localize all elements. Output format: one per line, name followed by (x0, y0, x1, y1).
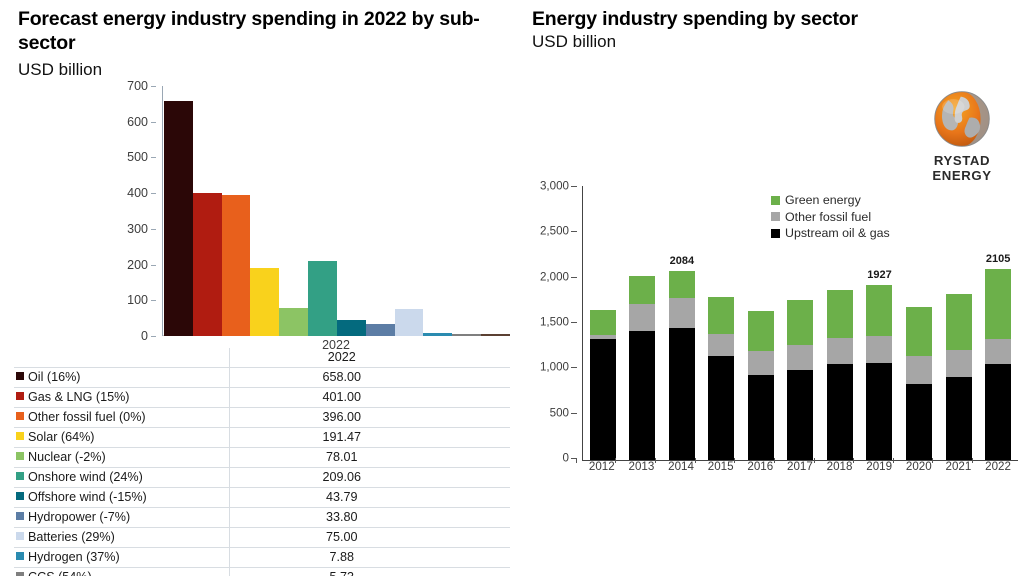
infographic-page: Forecast energy industry spending in 202… (0, 0, 1024, 576)
table-row-label: Other fossil fuel (0%) (14, 408, 229, 428)
stacked-bar-segment (906, 356, 932, 384)
table-row-label-text: Other fossil fuel (0%) (28, 410, 146, 424)
table-row: Offshore wind (-15%)43.79 (14, 488, 510, 508)
left-chart-bar (308, 261, 337, 336)
right-chart-y-tickmark (571, 231, 577, 232)
legend-swatch-icon (16, 432, 24, 440)
right-chart-x-tick-label: 2020 (906, 460, 932, 473)
table-row: Onshore wind (24%)209.06 (14, 468, 510, 488)
stacked-bar-segment (787, 300, 813, 345)
table-row-label-text: Solar (64%) (28, 430, 95, 444)
stacked-bar-segment (866, 285, 892, 336)
legend-swatch-icon (16, 492, 24, 500)
right-chart-x-tick-label: 2012 (589, 460, 615, 473)
right-chart-x-tick-label: 2022 (985, 460, 1011, 473)
table-row-label: Hydropower (-7%) (14, 508, 229, 528)
right-chart-y-tickmark (571, 367, 577, 368)
table-header-year: 2022 (229, 348, 510, 368)
stacked-bar-segment (629, 331, 655, 460)
right-chart-x-tick-label: 2014 (668, 460, 694, 473)
legend-swatch-icon (16, 532, 24, 540)
right-chart-x-tick-label: 2018 (827, 460, 853, 473)
legend-swatch-icon (16, 572, 24, 576)
left-chart-bars (163, 86, 510, 336)
right-chart-y-tickmark (571, 413, 577, 414)
left-chart-bar (481, 334, 510, 336)
left-chart-y-tickmark (151, 265, 156, 266)
stacked-bar-segment (669, 298, 695, 328)
left-chart-y-tickmark (151, 86, 156, 87)
left-chart-title: Forecast energy industry spending in 202… (18, 8, 488, 56)
left-chart-bar (337, 320, 366, 336)
right-chart-x-axis: 2012201320142015201620172018201920202021… (582, 460, 1018, 473)
left-chart-panel: Forecast energy industry spending in 202… (0, 0, 516, 576)
right-chart-y-tick-label: 0 (563, 452, 569, 465)
stacked-bar-segment (985, 339, 1011, 365)
left-chart-y-tickmark (151, 229, 156, 230)
left-bar-chart: 0100200300400500600700 2022 (110, 86, 510, 336)
left-chart-bar (193, 193, 222, 336)
right-chart-stacked-bar: 2084 (669, 186, 695, 460)
left-chart-plot-area (162, 86, 510, 336)
stacked-bar-segment (985, 269, 1011, 338)
table-row-label-text: Oil (16%) (28, 370, 80, 384)
left-chart-bar (395, 309, 424, 336)
table-row-label: CCS (54%) (14, 568, 229, 576)
right-chart-x-tick-label: 2021 (945, 460, 971, 473)
stacked-bar-segment (708, 356, 734, 460)
right-chart-y-tickmark (571, 322, 577, 323)
stacked-bar-segment (629, 276, 655, 304)
table-row-value: 401.00 (229, 388, 510, 408)
table-row-value: 658.00 (229, 368, 510, 388)
table-row-label: Onshore wind (24%) (14, 468, 229, 488)
table-row-label-text: Offshore wind (-15%) (28, 490, 147, 504)
right-chart-stacked-bar (827, 186, 853, 460)
left-chart-bar (279, 308, 308, 336)
table-row-label-text: Hydrogen (37%) (28, 550, 120, 564)
left-chart-y-tickmark (151, 157, 156, 158)
left-chart-y-tickmark (151, 122, 156, 123)
table-row-label: Offshore wind (-15%) (14, 488, 229, 508)
right-chart-subtitle: USD billion (532, 32, 616, 52)
table-row-value: 7.88 (229, 548, 510, 568)
stacked-bar-segment (866, 336, 892, 363)
right-chart-y-tick-label: 3,000 (540, 180, 569, 193)
stacked-bar-segment (985, 364, 1011, 460)
table-row-value: 33.80 (229, 508, 510, 528)
left-chart-legend-table: 2022Oil (16%)658.00Gas & LNG (15%)401.00… (14, 348, 510, 576)
stacked-bar-segment (748, 311, 774, 351)
right-chart-stacked-bar (748, 186, 774, 460)
stacked-bar-segment (946, 294, 972, 350)
right-chart-x-tick-label: 2016 (747, 460, 773, 473)
table-row: Gas & LNG (15%)401.00 (14, 388, 510, 408)
stacked-bar-segment (866, 363, 892, 460)
stacked-bar-segment (827, 364, 853, 460)
stacked-bar-segment (748, 351, 774, 375)
table-row-value: 209.06 (229, 468, 510, 488)
right-chart-bars: 208419272105 (583, 186, 1018, 460)
right-chart-y-axis: 05001,0001,5002,0002,5003,000 (522, 186, 578, 458)
left-chart-y-axis: 0100200300400500600700 (110, 86, 156, 336)
left-chart-bar (222, 195, 251, 336)
legend-swatch-icon (16, 412, 24, 420)
legend-swatch-icon (16, 392, 24, 400)
right-chart-y-tick-label: 1,500 (540, 316, 569, 329)
left-chart-y-tick-label: 0 (141, 329, 148, 343)
right-chart-stacked-bar (787, 186, 813, 460)
table-row-label: Solar (64%) (14, 428, 229, 448)
left-chart-y-tick-label: 600 (127, 115, 148, 129)
bar-total-label: 1927 (867, 269, 891, 281)
table-row-label: Gas & LNG (15%) (14, 388, 229, 408)
right-chart-stacked-bar (708, 186, 734, 460)
right-chart-x-tick-label: 2013 (628, 460, 654, 473)
legend-swatch-icon (16, 512, 24, 520)
legend-swatch-icon (16, 452, 24, 460)
table-row-label: Nuclear (-2%) (14, 448, 229, 468)
stacked-bar-segment (590, 339, 616, 460)
right-chart-stacked-bar (906, 186, 932, 460)
left-chart-bar (164, 101, 193, 336)
right-chart-title: Energy industry spending by sector (532, 8, 858, 32)
stacked-bar-segment (629, 304, 655, 331)
table-row-label-text: Hydropower (-7%) (28, 510, 130, 524)
right-chart-y-tick-label: 2,500 (540, 225, 569, 238)
right-chart-x-tick-label: 2017 (787, 460, 813, 473)
table-row-label-text: Onshore wind (24%) (28, 470, 143, 484)
globe-icon (931, 88, 993, 150)
right-chart-stacked-bar: 1927 (866, 186, 892, 460)
table-row-value: 78.01 (229, 448, 510, 468)
table-row-label-text: Gas & LNG (15%) (28, 390, 129, 404)
left-chart-y-tick-label: 200 (127, 258, 148, 272)
legend-swatch-icon (16, 372, 24, 380)
left-chart-y-tickmark (151, 336, 156, 337)
table-header-row: 2022 (14, 348, 510, 368)
right-chart-stacked-bar (629, 186, 655, 460)
stacked-bar-segment (946, 350, 972, 377)
left-chart-y-tick-label: 500 (127, 150, 148, 164)
table-row: Other fossil fuel (0%)396.00 (14, 408, 510, 428)
right-chart-stacked-bar (946, 186, 972, 460)
legend-swatch-icon (16, 472, 24, 480)
table-row-value: 43.79 (229, 488, 510, 508)
table-row-label-text: Nuclear (-2%) (28, 450, 106, 464)
stacked-bar-segment (906, 384, 932, 460)
table-row-label-text: Batteries (29%) (28, 530, 115, 544)
table-row: Hydropower (-7%)33.80 (14, 508, 510, 528)
stacked-bar-segment (906, 307, 932, 356)
table-row-label: Batteries (29%) (14, 528, 229, 548)
stacked-bar-segment (787, 370, 813, 460)
table-row-value: 75.00 (229, 528, 510, 548)
left-chart-y-tickmark (151, 300, 156, 301)
table-row-label-text: CCS (54%) (28, 570, 92, 576)
left-chart-y-tick-label: 700 (127, 79, 148, 93)
stacked-bar-segment (787, 345, 813, 369)
right-chart-y-tickmark (571, 186, 577, 187)
table-row-value: 191.47 (229, 428, 510, 448)
table-row-value: 396.00 (229, 408, 510, 428)
bar-total-label: 2084 (670, 255, 694, 267)
left-chart-bar (250, 268, 279, 336)
table-row-label: Hydrogen (37%) (14, 548, 229, 568)
stacked-bar-segment (708, 297, 734, 334)
left-chart-y-tick-label: 100 (127, 293, 148, 307)
stacked-bar-segment (748, 375, 774, 460)
right-chart-stacked-bar (590, 186, 616, 460)
stacked-bar-segment (669, 271, 695, 298)
right-chart-y-tick-label: 500 (550, 406, 569, 419)
left-chart-y-tickmark (151, 193, 156, 194)
left-chart-y-tick-label: 300 (127, 222, 148, 236)
rystad-energy-logo: RYSTAD ENERGY (904, 88, 1020, 183)
stacked-bar-segment (590, 310, 616, 335)
left-chart-bar (423, 333, 452, 336)
right-chart-x-tick-label: 2019 (866, 460, 892, 473)
right-chart-plot-area: 208419272105 (582, 186, 1018, 461)
table-row: Hydrogen (37%)7.88 (14, 548, 510, 568)
table-row-value: 5.73 (229, 568, 510, 576)
table-row: CCS (54%)5.73 (14, 568, 510, 576)
logo-wordmark: RYSTAD ENERGY (904, 153, 1020, 183)
left-chart-bar (452, 334, 481, 336)
stacked-bar-segment (946, 377, 972, 460)
stacked-bar-segment (827, 338, 853, 364)
table-row: Oil (16%)658.00 (14, 368, 510, 388)
stacked-bar-segment (708, 334, 734, 356)
left-chart-subtitle: USD billion (18, 60, 102, 80)
left-chart-y-tick-label: 400 (127, 186, 148, 200)
right-chart-stacked-bar: 2105 (985, 186, 1011, 460)
right-stacked-bar-chart: 05001,0001,5002,0002,5003,000 2084192721… (522, 186, 1022, 461)
stacked-bar-segment (827, 290, 853, 338)
table-row: Batteries (29%)75.00 (14, 528, 510, 548)
table-header-label (14, 348, 229, 368)
right-chart-panel: Energy industry spending by sector USD b… (516, 0, 1024, 576)
right-chart-x-tick-label: 2015 (708, 460, 734, 473)
right-chart-y-tickmark (571, 277, 577, 278)
right-chart-y-tick-label: 2,000 (540, 270, 569, 283)
stacked-bar-segment (669, 328, 695, 460)
right-chart-y-tick-label: 1,000 (540, 361, 569, 374)
legend-swatch-icon (16, 552, 24, 560)
table-row: Nuclear (-2%)78.01 (14, 448, 510, 468)
bar-total-label: 2105 (986, 253, 1010, 265)
table-row: Solar (64%)191.47 (14, 428, 510, 448)
left-chart-bar (366, 324, 395, 336)
table-row-label: Oil (16%) (14, 368, 229, 388)
